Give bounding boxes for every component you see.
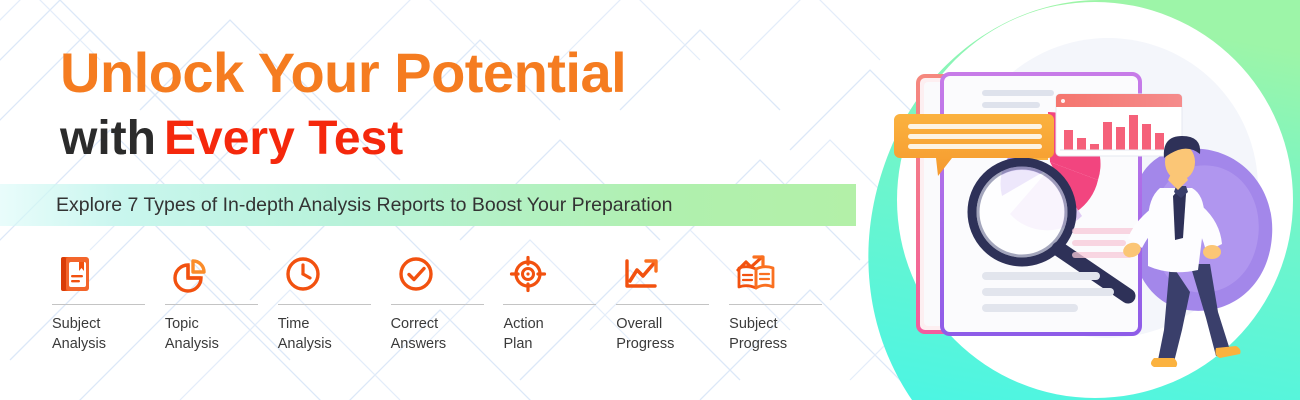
feature-divider	[503, 304, 596, 305]
back-document-pink	[918, 76, 1018, 332]
feature-item-correct-answers[interactable]: CorrectAnswers	[391, 252, 504, 362]
document-pie-chart	[1001, 110, 1101, 230]
check-circle-icon	[397, 252, 435, 296]
feature-label: TimeAnalysis	[278, 314, 378, 354]
book-chart-icon	[735, 252, 777, 296]
feature-list: SubjectAnalysis TopicAnalysis	[52, 252, 842, 362]
feature-divider	[616, 304, 709, 305]
feature-label: SubjectAnalysis	[52, 314, 152, 354]
line-chart-up-icon	[622, 252, 662, 296]
feature-item-time-analysis[interactable]: TimeAnalysis	[278, 252, 391, 362]
feature-divider	[165, 304, 258, 305]
report-book-icon	[58, 252, 92, 296]
document-text-lines-bottom	[982, 272, 1114, 312]
front-document-purple	[942, 74, 1140, 334]
promo-banner: Unlock Your Potential withEvery Test Exp…	[0, 0, 1300, 400]
clock-icon	[284, 252, 322, 296]
feature-label: CorrectAnswers	[391, 314, 491, 354]
headline-accent: Every Test	[164, 112, 403, 165]
white-circle-backdrop	[897, 2, 1293, 398]
feature-label: SubjectProgress	[729, 314, 829, 354]
feature-item-overall-progress[interactable]: OverallProgress	[616, 252, 729, 362]
data-analysis-illustration	[860, 0, 1300, 400]
headline-line-2: withEvery Test	[60, 111, 626, 166]
feature-divider	[391, 304, 484, 305]
feature-divider	[52, 304, 145, 305]
feature-label: TopicAnalysis	[165, 314, 265, 354]
purple-blob	[1129, 149, 1272, 311]
feature-label: ActionPlan	[503, 314, 603, 354]
pie-chart-icon	[171, 252, 207, 296]
headline-line-1: Unlock Your Potential	[60, 44, 626, 103]
feature-item-action-plan[interactable]: ActionPlan	[503, 252, 616, 362]
feature-item-topic-analysis[interactable]: TopicAnalysis	[165, 252, 278, 362]
subtitle-band: Explore 7 Types of In-depth Analysis Rep…	[0, 184, 856, 226]
headline-prefix: with	[60, 112, 156, 165]
target-icon	[509, 252, 547, 296]
feature-label: OverallProgress	[616, 314, 716, 354]
feature-item-subject-progress[interactable]: SubjectProgress	[729, 252, 842, 362]
feature-divider	[729, 304, 822, 305]
headline-block: Unlock Your Potential withEvery Test	[60, 44, 626, 166]
green-gradient-blob	[860, 0, 1300, 400]
businessman-figure	[1121, 136, 1240, 367]
orange-speech-bubble	[894, 114, 1054, 176]
document-text-lines-top	[982, 90, 1054, 120]
bar-chart-bars	[1064, 115, 1164, 150]
bar-chart-window	[1056, 94, 1182, 156]
feature-item-subject-analysis[interactable]: SubjectAnalysis	[52, 252, 165, 362]
feature-divider	[278, 304, 371, 305]
magnifying-glass	[970, 160, 1128, 296]
subtitle-text: Explore 7 Types of In-depth Analysis Rep…	[56, 194, 672, 217]
